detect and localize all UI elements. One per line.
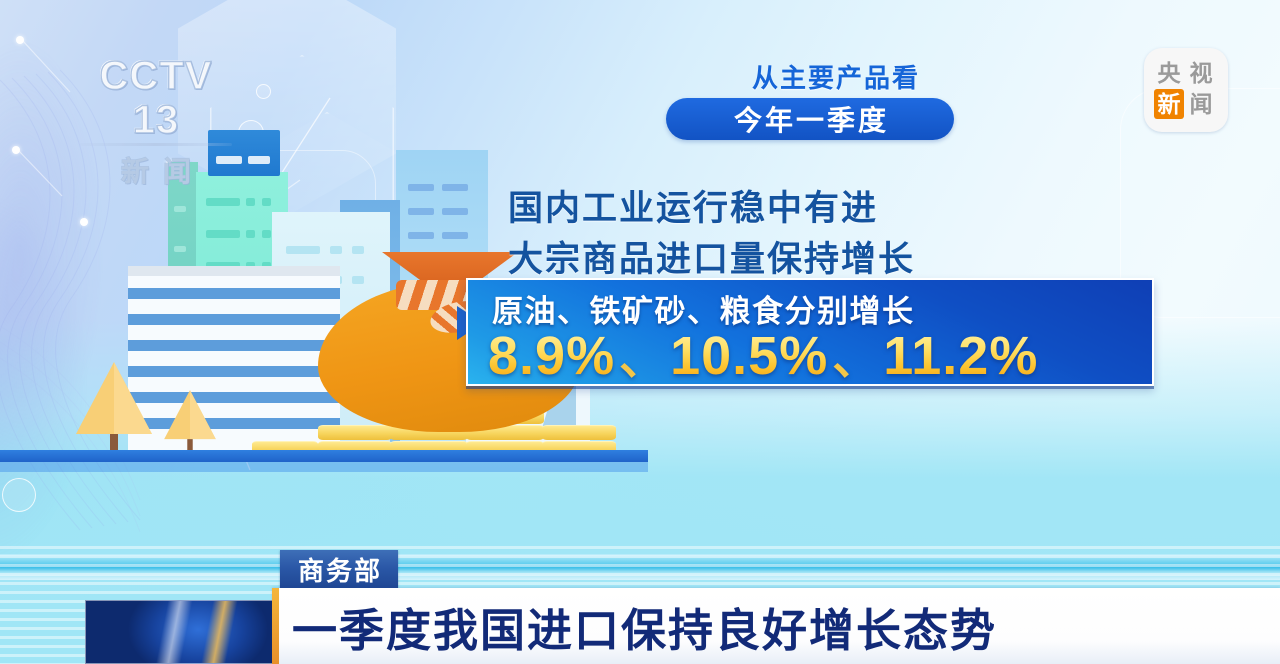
- value-crude-oil: 8.9%: [488, 326, 615, 386]
- tree-large: [76, 362, 152, 450]
- app-logo-char-1: 央: [1154, 58, 1184, 88]
- cctv13-channel-logo: CCTV 13 新闻: [76, 54, 236, 140]
- headline-text: 一季度我国进口保持良好增长态势: [292, 594, 997, 659]
- ground-shadow: [0, 461, 648, 472]
- app-logo-char-4: 闻: [1186, 89, 1216, 119]
- header-subtitle: 从主要产品看: [716, 58, 956, 95]
- highlight-banner: 原油、铁矿砂、粮食分别增长 8.9%、10.5%、11.2%: [466, 278, 1154, 386]
- cctv13-underline: [80, 143, 232, 146]
- cctv13-wordmark: CCTV 13: [76, 54, 236, 142]
- headline-accent-edge: [272, 588, 279, 664]
- node-circle-1: [256, 84, 271, 99]
- building-striped-front: [128, 274, 340, 450]
- value-separator-2: 、: [828, 332, 883, 384]
- broadcast-frame: CCTV 13 新闻 央 视 新 闻 从主要产品看 今年一季度 国内工业运行稳中…: [0, 0, 1280, 664]
- value-separator-1: 、: [615, 332, 670, 384]
- tree-small: [164, 390, 216, 450]
- node-dot-3: [16, 36, 24, 44]
- banner-values: 8.9%、10.5%、11.2%: [488, 322, 1038, 388]
- value-iron-ore: 10.5%: [670, 326, 828, 386]
- cctv-news-app-logo: 央 视 新 闻: [1144, 48, 1228, 132]
- header-period-pill: 今年一季度: [666, 98, 954, 140]
- ground-line: [0, 450, 648, 462]
- header-period-label: 今年一季度: [731, 99, 889, 139]
- app-logo-char-3: 新: [1154, 89, 1184, 119]
- body-line-2: 大宗商品进口量保持增长: [508, 231, 915, 282]
- body-line-1: 国内工业运行稳中有进: [508, 180, 878, 231]
- headline-bar: 一季度我国进口保持良好增长态势: [272, 588, 1280, 664]
- source-tag-label: 商务部: [296, 551, 382, 588]
- source-tag: 商务部: [280, 550, 398, 588]
- value-grain: 11.2%: [883, 326, 1038, 386]
- app-logo-char-2: 视: [1186, 58, 1216, 88]
- globe-thumbnail: [85, 600, 280, 664]
- cctv13-subtitle: 新闻: [76, 150, 236, 190]
